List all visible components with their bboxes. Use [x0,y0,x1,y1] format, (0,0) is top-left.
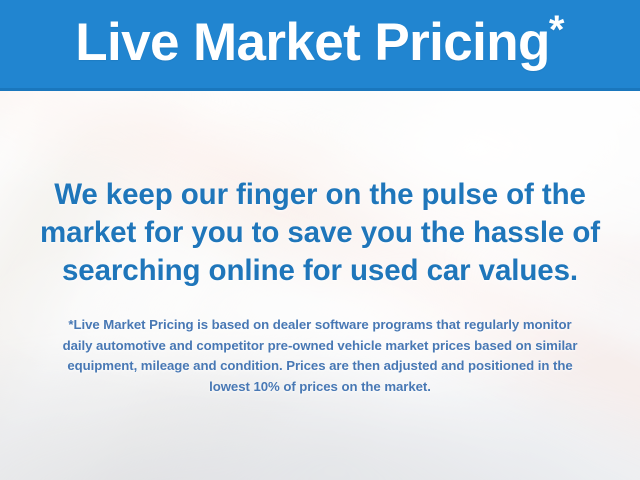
disclaimer-line-4: lowest 10% of prices on the market. [0,377,640,398]
headline-line-2: market for you to save you the hassle of [0,214,640,252]
headline-line-1: We keep our finger on the pulse of the [0,176,640,214]
title-banner: Live Market Pricing* [0,0,640,91]
disclaimer-line-3: equipment, mileage and condition. Prices… [0,356,640,377]
live-market-pricing-promo-card: Live Market Pricing* We keep our finger … [0,0,640,480]
headline-text: We keep our finger on the pulse of the m… [0,176,640,290]
disclaimer-line-1: *Live Market Pricing is based on dealer … [0,315,640,336]
page-title-asterisk: * [549,8,564,52]
page-title: Live Market Pricing* [75,16,565,69]
disclaimer-text: *Live Market Pricing is based on dealer … [0,315,640,397]
headline-line-3: searching online for used car values. [0,252,640,290]
page-title-text: Live Market Pricing [75,13,550,72]
disclaimer-line-2: daily automotive and competitor pre-owne… [0,336,640,357]
